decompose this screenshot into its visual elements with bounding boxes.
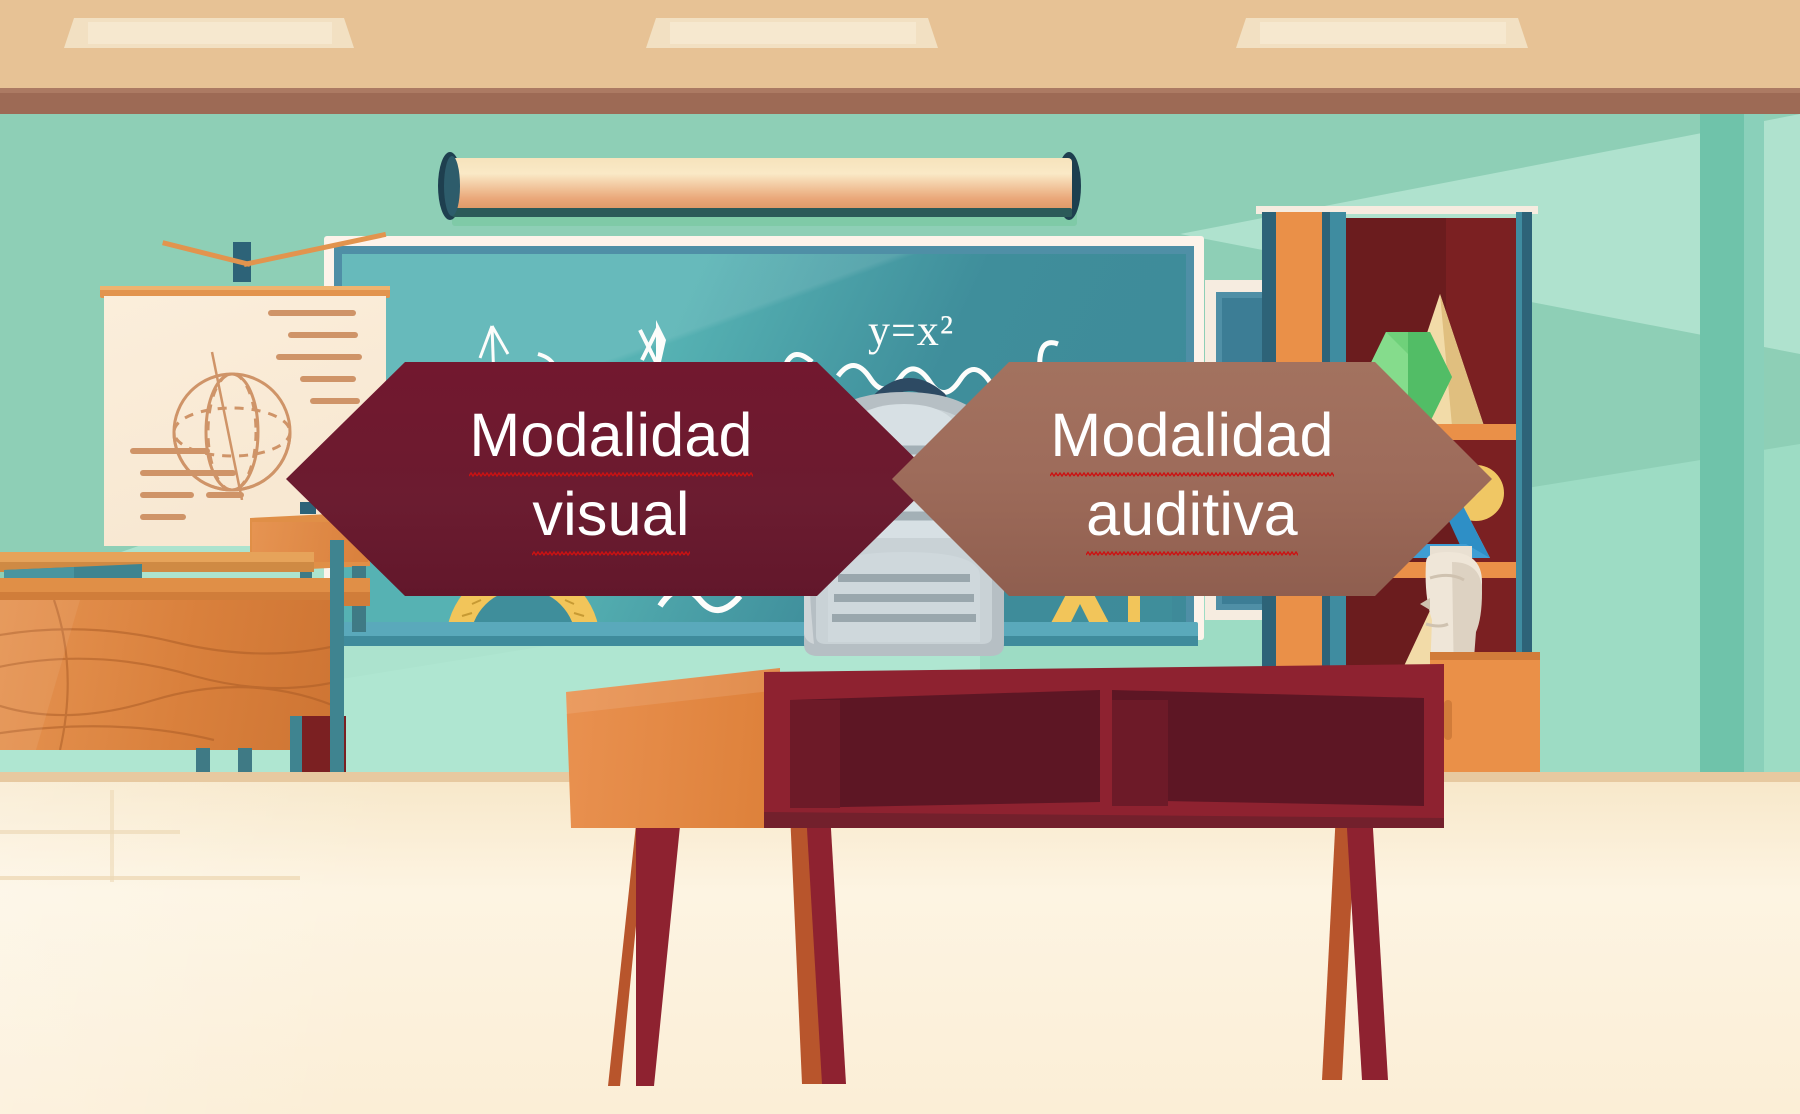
poster-text-line (310, 398, 360, 404)
floor-tile-seam (0, 830, 180, 834)
projector-screen-underside (452, 208, 1072, 217)
low-cabinet-top (1430, 652, 1540, 660)
arrow-auditiva-line2: auditiva (1086, 479, 1298, 558)
arrow-modalidad-auditiva[interactable]: Modalidad auditiva (892, 362, 1492, 596)
poster-text-line (288, 332, 358, 338)
poster-text-line (130, 448, 210, 454)
rolled-projector-screen[interactable] (452, 158, 1072, 214)
student-desk-cubby-shadow (1112, 700, 1168, 806)
poster-text-line (140, 514, 186, 520)
chair-back (330, 540, 344, 780)
floor-highlight (0, 782, 1800, 1114)
poster-text-line (206, 492, 244, 498)
floor-tile-seam (0, 876, 300, 880)
poster-text-line (140, 492, 194, 498)
student-desk-side-shading (566, 668, 780, 828)
classroom-scene: y=x² (0, 0, 1800, 1114)
wall-pilaster (1700, 114, 1744, 774)
globe-diagram (160, 350, 310, 500)
arrow-visual-label: Modalidad visual (469, 400, 752, 558)
arrow-auditiva-line1: Modalidad (1050, 400, 1333, 479)
poster-text-line (276, 354, 362, 360)
poster-rod-highlight (100, 286, 390, 290)
low-cabinet-handle[interactable] (1444, 700, 1452, 740)
chalkboard-ledge-shadow (330, 636, 1198, 646)
arrow-modalidad-visual[interactable]: Modalidad visual (286, 362, 936, 596)
ceiling-light-panel (670, 22, 916, 44)
student-desk-cubby-shadow (790, 700, 840, 808)
wall-pilaster-edge (1744, 114, 1764, 774)
arrow-auditiva-label: Modalidad auditiva (1050, 400, 1333, 558)
floor-tile-seam (110, 790, 114, 882)
arrow-visual-line1: Modalidad (469, 400, 752, 479)
poster-text-line (268, 310, 356, 316)
arrow-visual-line2: visual (532, 479, 689, 558)
ceiling-light-panel (1260, 22, 1506, 44)
ceiling-trim-highlight (0, 88, 1800, 93)
poster-text-line (300, 376, 356, 382)
chalk-text-y (626, 300, 637, 348)
poster-text-line (140, 470, 236, 476)
projector-screen-cap-inner (444, 156, 460, 216)
ceiling-light-panel (88, 22, 332, 44)
